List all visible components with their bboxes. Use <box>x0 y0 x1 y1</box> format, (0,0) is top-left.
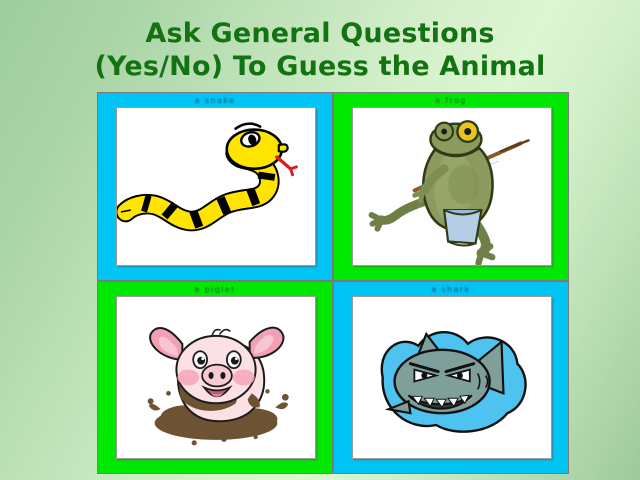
picture-panel-shark[interactable]: a shark <box>333 281 569 474</box>
frog-icon <box>353 108 551 265</box>
shark-illustration <box>353 297 551 458</box>
piglet-illustration <box>117 297 315 458</box>
picture-panel-piglet[interactable]: a piglet <box>97 281 333 474</box>
title-line-1: Ask General Questions <box>0 17 640 50</box>
picture-canvas-shark <box>352 296 552 459</box>
snake-icon <box>117 108 315 265</box>
page-title: Ask General Questions (Yes/No) To Guess … <box>0 17 640 83</box>
panel-label-piglet: a piglet <box>98 285 332 294</box>
frog-illustration <box>353 108 551 265</box>
animal-picture-grid: a snake <box>97 92 569 474</box>
snake-illustration <box>117 108 315 265</box>
panel-label-shark: a shark <box>334 285 568 294</box>
panel-label-snake: a snake <box>98 96 332 105</box>
picture-panel-frog[interactable]: a frog <box>333 92 569 281</box>
title-line-2: (Yes/No) To Guess the Animal <box>0 50 640 83</box>
shark-icon <box>353 297 551 458</box>
picture-canvas-frog <box>352 107 552 266</box>
panel-label-frog: a frog <box>334 96 568 105</box>
picture-canvas-piglet <box>116 296 316 459</box>
picture-panel-snake[interactable]: a snake <box>97 92 333 281</box>
slide-canvas: Ask General Questions (Yes/No) To Guess … <box>0 0 640 480</box>
piglet-icon <box>117 297 315 458</box>
picture-canvas-snake <box>116 107 316 266</box>
